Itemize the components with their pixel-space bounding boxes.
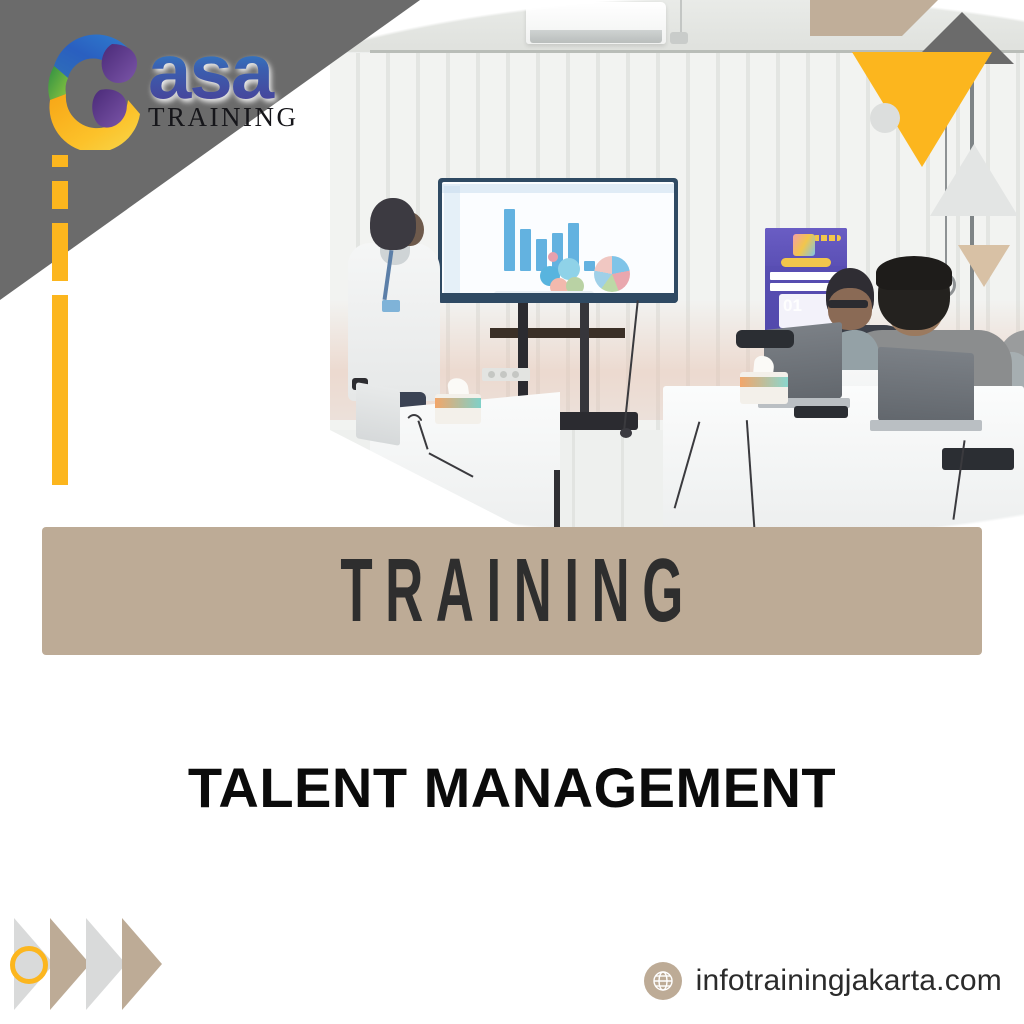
interactive-display [438,178,678,303]
dash-segment [52,181,68,209]
presenter-head [370,198,416,250]
bubble-point [548,252,558,262]
banner-illustration [793,234,815,256]
participant-2-glasses [828,300,868,308]
globe-icon [644,962,682,1000]
pie-chart [594,256,630,292]
laptop-base [870,420,982,431]
socket-outlet [512,371,519,378]
banner-pill [781,258,831,267]
dash-segment [52,295,68,485]
ac-vent [530,30,662,43]
wall-hook-line [680,0,682,36]
display-screen [442,182,674,299]
laptop-screen [878,347,974,428]
decorative-shapes-group [830,0,1024,300]
display-stand-shelf [490,328,625,338]
chart-bar [520,229,531,271]
mobile-phone [942,448,1014,470]
website-footer[interactable]: infotrainingjakarta.com [644,962,1002,1000]
wall-hook [670,32,688,44]
banner-number-01: 01 [783,296,802,316]
circular-c-gradient-logo-icon [30,20,160,150]
course-title: TALENT MANAGEMENT [0,755,1024,820]
socket-outlet [500,371,507,378]
screen-toolbar-left [444,186,460,299]
yellow-ring-icon [10,946,48,984]
chevron-2-icon [50,918,90,1010]
asa-training-logo: asa TRAINING [30,14,330,164]
chevron-3-icon [86,918,126,1010]
website-url[interactable]: infotrainingjakarta.com [696,964,1002,998]
training-flyer-poster: 01 02 [0,0,1024,1024]
tan-triangle-down-icon [958,245,1010,287]
display-stand-pole [580,303,589,421]
white-triangle-up-icon [930,144,1018,216]
mobile-phone [794,406,848,418]
tissue-box-band [435,398,481,408]
tissue-box-band [740,377,788,387]
display-bezel-bottom [438,293,678,303]
dash-segment [52,223,68,281]
logo-wordmark: asa [148,36,298,108]
yellow-dashed-vertical-line [52,155,68,499]
folded-jacket [736,330,794,348]
training-banner: TRAINING [42,527,982,655]
laptop-screen [356,382,400,446]
socket-outlet [488,371,495,378]
chevron-4-icon [122,918,162,1010]
screen-toolbar-top [442,184,674,193]
chevron-arrows-group [14,918,194,1010]
stand-caster [620,428,632,438]
light-circle-icon [870,103,900,133]
chart-bar [504,209,515,271]
presenter-badge [382,300,400,312]
training-banner-label: TRAINING [328,539,696,642]
